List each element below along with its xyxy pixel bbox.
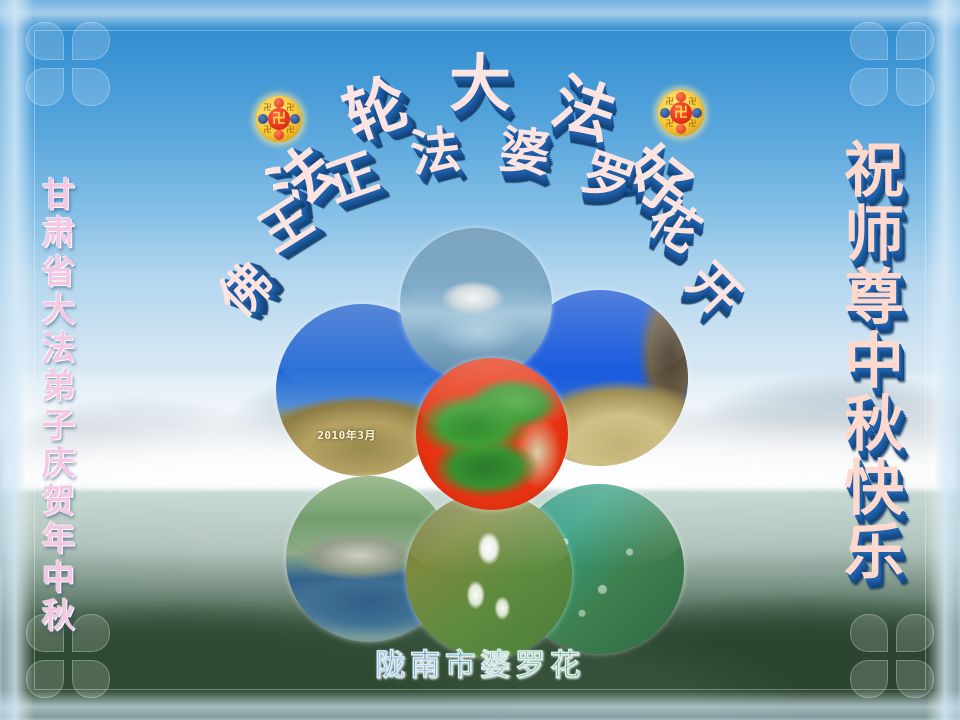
falun-ring-sphere [660, 108, 670, 118]
falun-center-glyph: 卍 [674, 106, 688, 120]
falun-center-glyph: 卍 [272, 112, 286, 126]
greeting-poster: 卍 卍卍卍卍 卍 卍卍卍卍 法轮大法好 佛王正法婆罗花开 2010年3月 [0, 0, 960, 720]
falun-ring-symbol: 卍 [263, 125, 273, 135]
falun-ring-symbol: 卍 [687, 119, 697, 129]
falun-ring-sphere [274, 130, 284, 140]
falun-ring-sphere [258, 114, 268, 124]
photo-center [416, 358, 568, 510]
falun-ring-symbol: 卍 [285, 125, 295, 135]
falun-ring-symbol: 卍 [687, 97, 697, 107]
photo-bottom [406, 492, 572, 658]
falun-ring-symbol: 卍 [665, 97, 675, 107]
falun-ring-sphere [290, 114, 300, 124]
udumbara-photo-collage: 2010年3月 [268, 228, 688, 638]
falun-ring-sphere [692, 108, 702, 118]
falun-ring-symbol: 卍 [665, 119, 675, 129]
photo-date-stamp: 2010年3月 [317, 427, 376, 443]
falun-ring-symbol: 卍 [263, 103, 273, 113]
falun-emblem-right: 卍 卍卍卍卍 [658, 90, 704, 136]
falun-emblem-left: 卍 卍卍卍卍 [256, 96, 302, 142]
falun-ring-symbol: 卍 [285, 103, 295, 113]
falun-ring-sphere [274, 98, 284, 108]
falun-ring-sphere [676, 124, 686, 134]
falun-ring-sphere [676, 92, 686, 102]
